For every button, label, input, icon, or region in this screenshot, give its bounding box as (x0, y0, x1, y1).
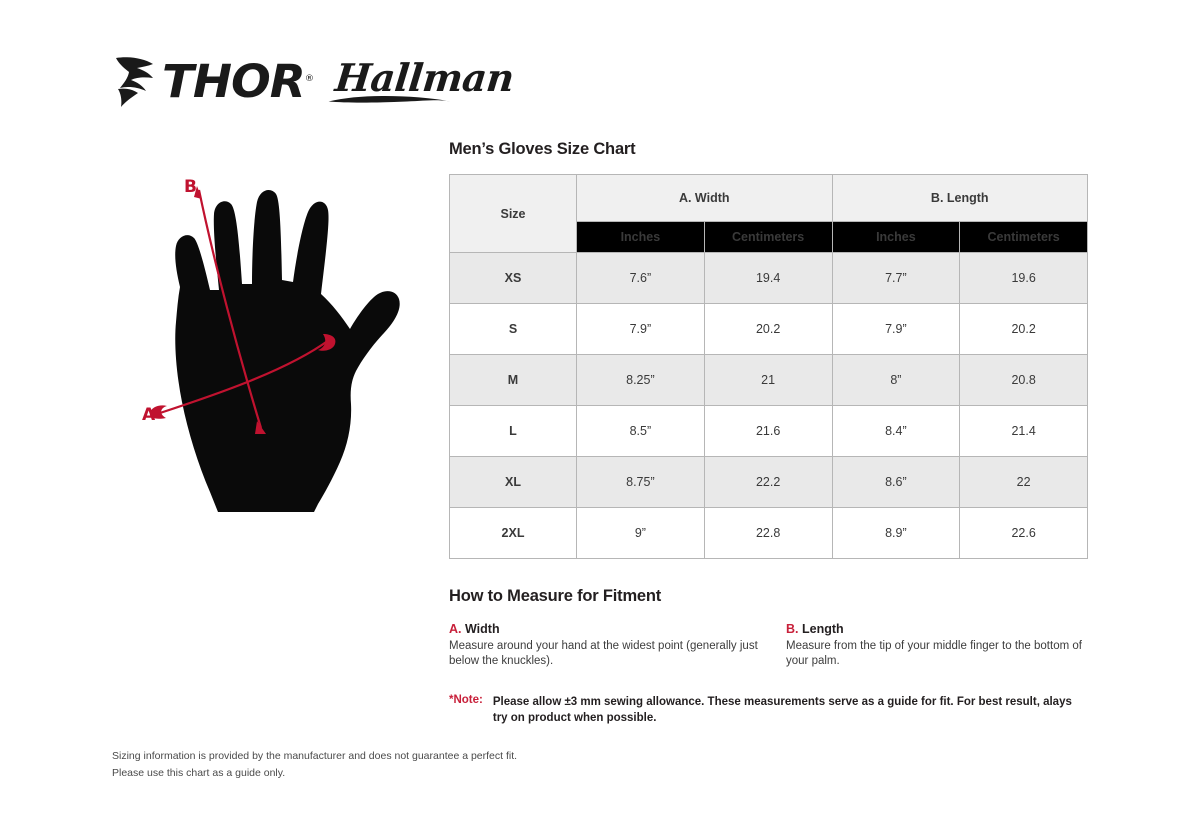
size-chart-table: Size A. Width B. Length Inches Centimete… (449, 174, 1088, 559)
hallman-logo: Hallman (333, 59, 516, 103)
cell-size: M (450, 355, 577, 406)
header-group-width: A. Width (577, 175, 833, 222)
note-label: *Note: (449, 694, 483, 726)
measure-description-length: Measure from the tip of your middle fing… (786, 639, 1088, 669)
cell-size: XL (450, 457, 577, 508)
table-header-row-groups: Size A. Width B. Length (450, 175, 1088, 222)
table-row: XL 8.75” 22.2 8.6” 22 (450, 457, 1088, 508)
cell-width-inches: 9” (577, 508, 705, 559)
cell-width-inches: 8.75” (577, 457, 705, 508)
measure-description-width: Measure around your hand at the widest p… (449, 639, 786, 669)
cell-width-inches: 7.6” (577, 253, 705, 304)
cell-length-centimeters: 20.8 (960, 355, 1088, 406)
table-row: M 8.25” 21 8” 20.8 (450, 355, 1088, 406)
size-chart-panel: Men’s Gloves Size Chart Size A. Width B.… (449, 140, 1088, 727)
label-a: A (142, 405, 156, 425)
cell-length-centimeters: 21.4 (960, 406, 1088, 457)
disclaimer: Sizing information is provided by the ma… (112, 748, 517, 782)
cell-length-inches: 8” (832, 355, 960, 406)
header-width-inches: Inches (577, 222, 705, 253)
table-row: 2XL 9” 22.8 8.9” 22.6 (450, 508, 1088, 559)
cell-width-inches: 8.25” (577, 355, 705, 406)
cell-length-centimeters: 19.6 (960, 253, 1088, 304)
cell-length-centimeters: 22.6 (960, 508, 1088, 559)
measure-item-width: A. Width Measure around your hand at the… (449, 622, 786, 669)
registered-mark: ® (305, 74, 313, 84)
cell-width-inches: 7.9” (577, 304, 705, 355)
cell-length-centimeters: 20.2 (960, 304, 1088, 355)
table-body: XS 7.6” 19.4 7.7” 19.6 S 7.9” 20.2 7.9” … (450, 253, 1088, 559)
cell-size: S (450, 304, 577, 355)
thor-wordmark: THOR® (162, 59, 313, 104)
cell-width-centimeters: 20.2 (704, 304, 832, 355)
header-length-centimeters: Centimeters (960, 222, 1088, 253)
measure-item-length-heading: B. Length (786, 622, 1088, 636)
cell-length-inches: 8.6” (832, 457, 960, 508)
table-row: L 8.5” 21.6 8.4” 21.4 (450, 406, 1088, 457)
cell-length-centimeters: 22 (960, 457, 1088, 508)
note-text: Please allow ±3 mm sewing allowance. The… (493, 694, 1083, 726)
cell-length-inches: 7.7” (832, 253, 960, 304)
disclaimer-line-1: Sizing information is provided by the ma… (112, 748, 517, 765)
cell-width-centimeters: 19.4 (704, 253, 832, 304)
hand-measurement-figure: B A (118, 172, 448, 532)
table-row: S 7.9” 20.2 7.9” 20.2 (450, 304, 1088, 355)
measure-letter-a: A. (449, 622, 462, 636)
cell-width-centimeters: 22.2 (704, 457, 832, 508)
measure-item-length: B. Length Measure from the tip of your m… (786, 622, 1088, 669)
how-to-measure-title: How to Measure for Fitment (449, 587, 1088, 606)
disclaimer-line-2: Please use this chart as a guide only. (112, 765, 517, 782)
cell-length-inches: 8.9” (832, 508, 960, 559)
note-row: *Note: Please allow ±3 mm sewing allowan… (449, 694, 1088, 726)
cell-size: L (450, 406, 577, 457)
label-b: B (184, 177, 197, 197)
how-to-measure-section: How to Measure for Fitment A. Width Meas… (449, 587, 1088, 727)
header-size: Size (450, 175, 577, 253)
table-header: Size A. Width B. Length Inches Centimete… (450, 175, 1088, 253)
thor-wordmark-text: THOR (162, 55, 305, 108)
hallman-swash-icon (327, 94, 453, 104)
cell-width-inches: 8.5” (577, 406, 705, 457)
thor-logo: THOR® (112, 55, 307, 107)
cell-width-centimeters: 21.6 (704, 406, 832, 457)
header-group-length: B. Length (832, 175, 1088, 222)
measure-name-width: Width (465, 622, 500, 636)
measure-item-width-heading: A. Width (449, 622, 786, 636)
header-length-inches: Inches (832, 222, 960, 253)
cell-width-centimeters: 22.8 (704, 508, 832, 559)
header-width-centimeters: Centimeters (704, 222, 832, 253)
measure-letter-b: B. (786, 622, 799, 636)
page-title: Men’s Gloves Size Chart (449, 140, 1088, 159)
cell-width-centimeters: 21 (704, 355, 832, 406)
cell-length-inches: 7.9” (832, 304, 960, 355)
glove-silhouette-icon: B A (118, 172, 448, 532)
cell-size: XS (450, 253, 577, 304)
measure-name-length: Length (802, 622, 844, 636)
cell-length-inches: 8.4” (832, 406, 960, 457)
table-row: XS 7.6” 19.4 7.7” 19.6 (450, 253, 1088, 304)
thor-helmet-icon (112, 55, 158, 107)
brand-logo-bar: THOR® Hallman (112, 52, 514, 110)
cell-size: 2XL (450, 508, 577, 559)
